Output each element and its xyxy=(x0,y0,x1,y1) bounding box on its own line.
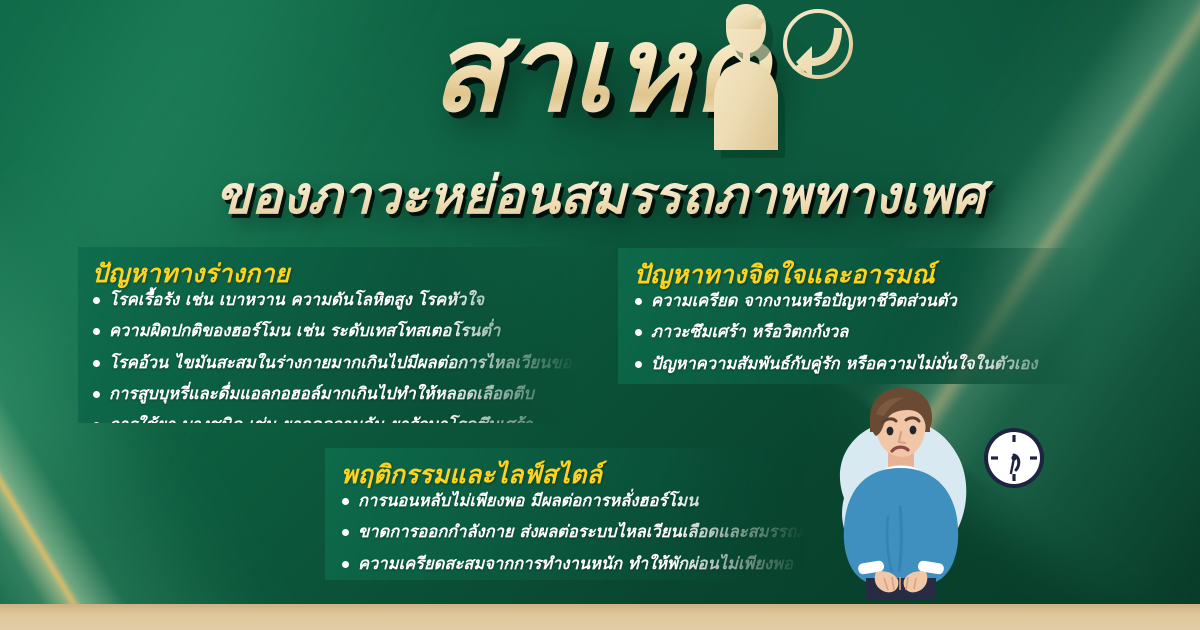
panel-lifestyle-list: การนอนหลับไม่เพียงพอ มีผลต่อการหลั่งฮอร์… xyxy=(341,490,805,575)
panel-mental: ปัญหาทางจิตใจและอารมณ์ ความเครียด จากงาน… xyxy=(618,248,1086,384)
bottom-bar xyxy=(0,604,1200,630)
sad-man-with-clock-illustration xyxy=(836,386,1066,608)
panel-physical: ปัญหาทางร่างกาย โรคเรื้อรัง เช่น เบาหวาน… xyxy=(78,247,578,423)
list-item: การสูบบุหรี่และดื่มแอลกอฮอล์มากเกินไปทำใ… xyxy=(92,383,578,405)
list-item: ความเครียดสะสมจากการทำงานหนัก ทำให้พักผ่… xyxy=(341,553,805,575)
panel-mental-list: ความเครียด จากงานหรือปัญหาชีวิตส่วนตัว ภ… xyxy=(634,290,1086,375)
list-item: โรคเรื้อรัง เช่น เบาหวาน ความดันโลหิตสูง… xyxy=(92,289,578,311)
list-item: การนอนหลับไม่เพียงพอ มีผลต่อการหลั่งฮอร์… xyxy=(341,490,805,512)
panel-mental-heading: ปัญหาทางจิตใจและอารมณ์ xyxy=(634,260,1086,290)
panel-physical-list: โรคเรื้อรัง เช่น เบาหวาน ความดันโลหิตสูง… xyxy=(92,289,578,436)
poster-canvas: สาเหตุ ของภาวะหย่อนสมรรถภาพทางเพศ ปัญหาท… xyxy=(0,0,1200,630)
person-silhouette-icon xyxy=(712,2,862,172)
list-item: ภาวะซึมเศร้า หรือวิตกกังวล xyxy=(634,321,1086,343)
list-item: ปัญหาความสัมพันธ์กับคู่รัก หรือความไม่มั… xyxy=(634,353,1086,375)
page-subtitle: ของภาวะหย่อนสมรรถภาพทางเพศ xyxy=(0,168,1200,225)
list-item: ความผิดปกติของฮอร์โมน เช่น ระดับเทสโทสเต… xyxy=(92,320,578,342)
list-item: ความเครียด จากงานหรือปัญหาชีวิตส่วนตัว xyxy=(634,290,1086,312)
eye-right xyxy=(910,426,917,435)
list-item: ขาดการออกกำลังกาย ส่งผลต่อระบบไหลเวียนเล… xyxy=(341,521,805,543)
panel-lifestyle-heading: พฤติกรรมและไลฟ์สไตล์ xyxy=(341,460,805,490)
wall-clock-icon xyxy=(984,428,1044,488)
panel-lifestyle: พฤติกรรมและไลฟ์สไตล์ การนอนหลับไม่เพียงพ… xyxy=(325,448,805,580)
list-item: การใช้ยา บางชนิด เช่น ยาลดความดัน ยารักษ… xyxy=(92,414,578,436)
panel-physical-heading: ปัญหาทางร่างกาย xyxy=(92,259,578,289)
eye-left xyxy=(887,427,894,436)
list-item: โรคอ้วน ไขมันสะสมในร่างกายมากเกินไปมีผลต… xyxy=(92,352,578,374)
title-block: สาเหตุ xyxy=(0,10,1200,128)
